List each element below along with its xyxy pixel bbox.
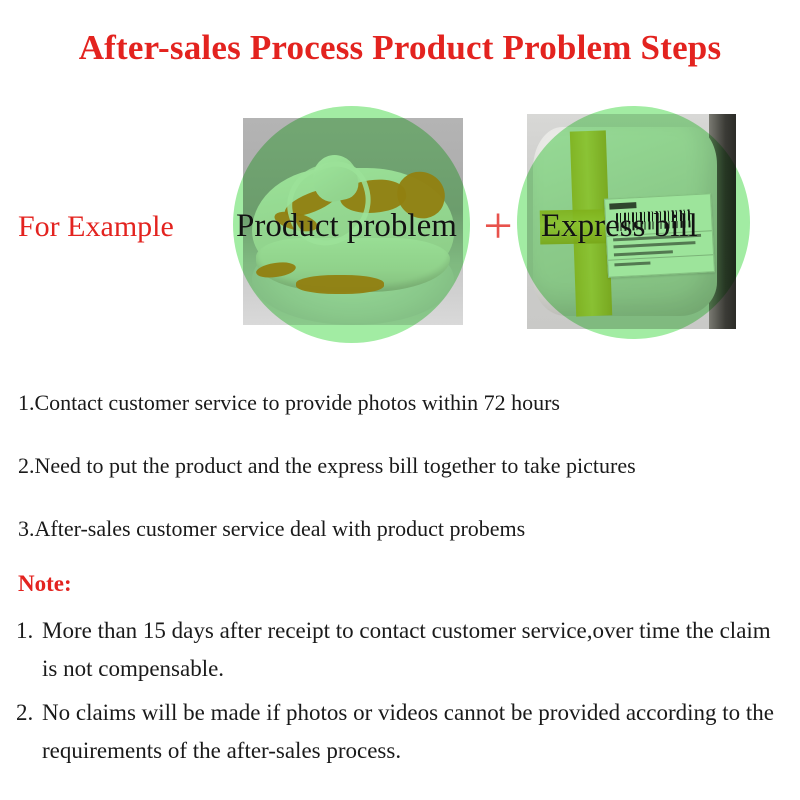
label-text-line — [615, 250, 674, 256]
note-item: 1. More than 15 days after receipt to co… — [16, 612, 791, 688]
example-row: For Example Product problem + — [0, 100, 800, 350]
note-heading: Note: — [18, 571, 72, 597]
note-item-text: More than 15 days after receipt to conta… — [42, 612, 791, 688]
label-text-line — [615, 261, 651, 266]
note-item: 2. No claims will be made if photos or v… — [16, 694, 791, 770]
product-problem-caption: Product problem — [236, 208, 457, 245]
after-sales-process-infographic: After-sales Process Product Problem Step… — [0, 0, 800, 800]
note-item-text: No claims will be made if photos or vide… — [42, 694, 791, 770]
plus-icon: + — [478, 200, 518, 254]
step-item-2: 2.Need to put the product and the expres… — [18, 453, 788, 479]
steps-list: 1.Contact customer service to provide ph… — [18, 390, 788, 579]
step-item-3: 3.After-sales customer service deal with… — [18, 516, 788, 542]
step-item-1: 1.Contact customer service to provide ph… — [18, 390, 788, 416]
for-example-label: For Example — [18, 210, 174, 244]
note-item-marker: 2. — [16, 694, 42, 770]
note-item-marker: 1. — [16, 612, 42, 688]
express-bill-caption: Express bill — [541, 208, 698, 245]
shoe-accent — [296, 275, 384, 294]
note-list: 1. More than 15 days after receipt to co… — [16, 612, 791, 776]
page-title: After-sales Process Product Problem Step… — [0, 28, 800, 68]
